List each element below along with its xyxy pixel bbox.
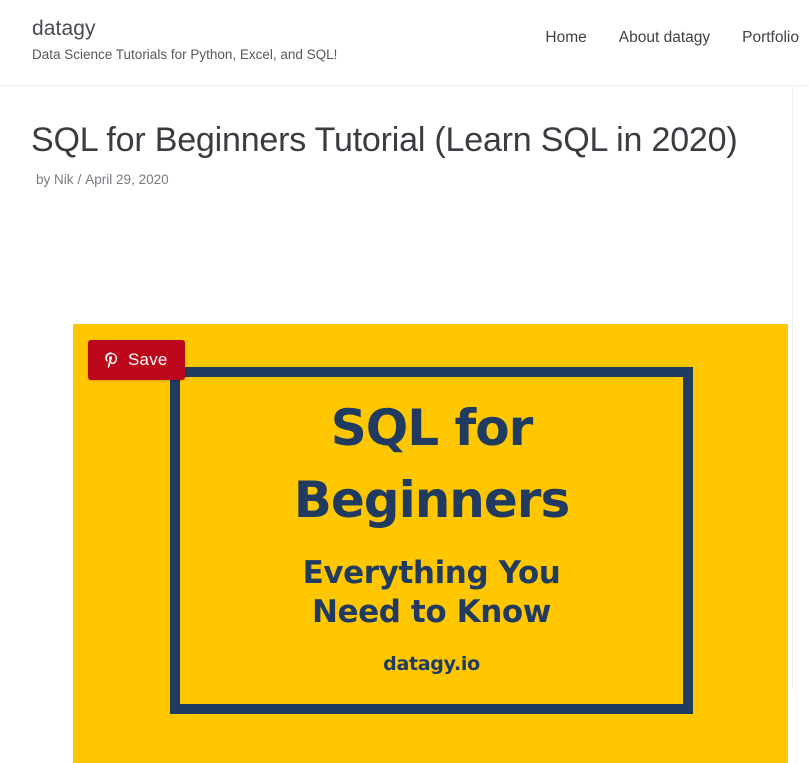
site-title[interactable]: datagy — [32, 16, 337, 42]
featured-image[interactable]: SQL for Beginners Everything You Need to… — [73, 324, 788, 763]
site-branding: datagy Data Science Tutorials for Python… — [32, 16, 337, 64]
site-header: datagy Data Science Tutorials for Python… — [0, 0, 809, 86]
poster-heading-line-2: Beginners — [294, 464, 569, 536]
site-tagline: Data Science Tutorials for Python, Excel… — [32, 45, 337, 64]
page-title: SQL for Beginners Tutorial (Learn SQL in… — [31, 118, 737, 162]
primary-navigation: Home About datagy Portfolio — [529, 27, 809, 49]
poster-brand-url: datagy.io — [383, 652, 480, 676]
poster-text-block: SQL for Beginners Everything You Need to… — [170, 367, 693, 714]
poster-heading-line-1: SQL for — [331, 392, 533, 464]
byline-label: by — [36, 172, 50, 187]
pinterest-icon — [102, 351, 121, 370]
nav-item-portfolio[interactable]: Portfolio — [726, 27, 809, 49]
pinterest-save-button[interactable]: Save — [88, 340, 185, 380]
meta-separator: / — [78, 172, 82, 187]
nav-item-about-datagy[interactable]: About datagy — [603, 27, 726, 49]
publish-date: April 29, 2020 — [85, 172, 168, 187]
content-edge-divider — [792, 86, 793, 689]
nav-item-home[interactable]: Home — [529, 27, 602, 49]
poster-subheading-line-2: Need to Know — [312, 593, 551, 632]
entry-meta: by Nik/April 29, 2020 — [36, 170, 169, 189]
pinterest-save-label: Save — [128, 350, 168, 370]
author-link[interactable]: Nik — [54, 172, 74, 187]
poster-subheading-line-1: Everything You — [303, 554, 561, 593]
